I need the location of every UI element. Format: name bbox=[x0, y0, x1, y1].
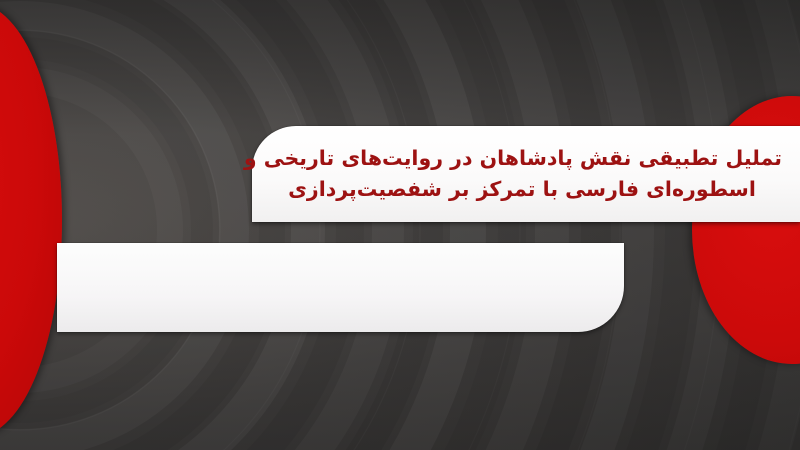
content-body-text bbox=[57, 243, 624, 332]
slide-title: تملیل تطبیقی نقش پادشاهان در روایت‌های ت… bbox=[262, 143, 782, 205]
presentation-slide: تملیل تطبیقی نقش پادشاهان در روایت‌های ت… bbox=[0, 0, 800, 450]
content-placeholder[interactable] bbox=[57, 243, 624, 332]
background-vignette bbox=[0, 0, 800, 450]
title-line-1: تملیل تطبیقی نقش پادشاهان در روایت‌های ت… bbox=[262, 143, 782, 174]
title-placeholder[interactable]: تملیل تطبیقی نقش پادشاهان در روایت‌های ت… bbox=[252, 126, 800, 222]
title-line-2: اسطوره‌ای فارسی با تمرکز بر شفصیت‌پردازی bbox=[262, 174, 782, 205]
